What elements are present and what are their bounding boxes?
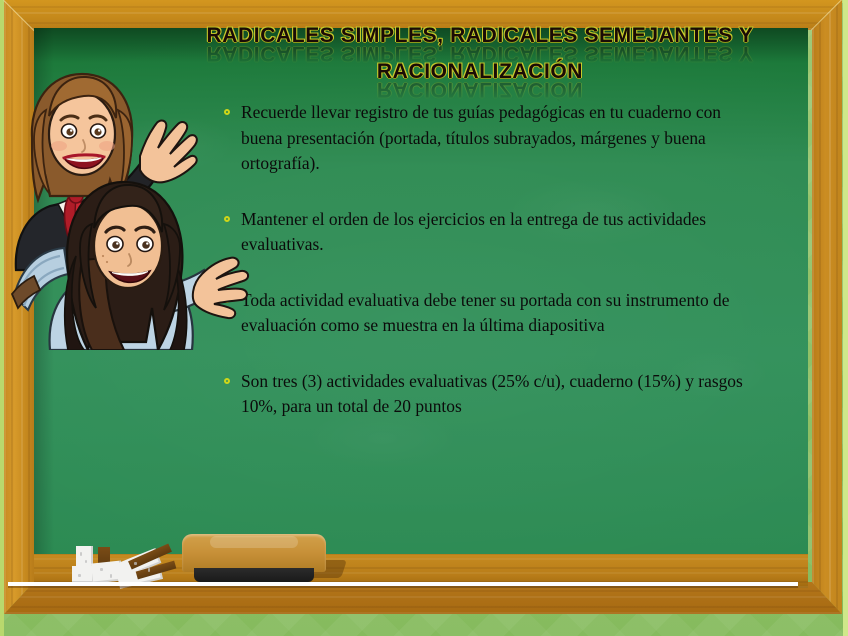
bullet-item-3: Toda actividad evaluativa debe tener su … (224, 288, 748, 339)
chalk-speck (134, 562, 137, 565)
chalk-speck (80, 552, 82, 556)
chalk-speck (85, 560, 87, 563)
board-inner-shadow-left (34, 28, 54, 554)
bullet-item-4: Son tres (3) actividades evaluativas (25… (224, 369, 748, 420)
bullet-item-2: Mantener el orden de los ejercicios en l… (224, 207, 748, 258)
hollow-circle-bullet-icon (224, 109, 230, 115)
edge-strip-right (843, 0, 848, 636)
presentation-slide: RADICALES SIMPLES, RADICALES SEMEJANTES … (0, 0, 848, 636)
bullet-text-3: Toda actividad evaluativa debe tener su … (241, 290, 729, 336)
frame-rail-left (4, 0, 34, 614)
bullet-list: Recuerde llevar registro de tus guías pe… (224, 100, 748, 446)
hollow-circle-bullet-icon (224, 216, 230, 222)
hollow-circle-bullet-icon (224, 378, 230, 384)
frame-rail-right (812, 0, 842, 614)
chalk-speck (148, 568, 150, 572)
bullet-text-4: Son tres (3) actividades evaluativas (25… (241, 371, 743, 417)
bullet-text-2: Mantener el orden de los ejercicios en l… (241, 209, 706, 255)
chalk-speck (78, 574, 81, 577)
board-inner-shadow-top (34, 28, 808, 62)
hollow-circle-bullet-icon (224, 297, 230, 303)
chalk-speck (100, 568, 103, 571)
frame-rail-top (4, 0, 842, 30)
ledge-front-lip-shadow (8, 586, 798, 588)
bullet-text-1: Recuerde llevar registro de tus guías pe… (241, 102, 721, 173)
bullet-item-1: Recuerde llevar registro de tus guías pe… (224, 100, 748, 177)
eraser-felt-pad (194, 568, 314, 582)
eraser-body (182, 534, 326, 572)
chalkboard-eraser (182, 534, 326, 584)
chalk-speck (110, 574, 112, 578)
